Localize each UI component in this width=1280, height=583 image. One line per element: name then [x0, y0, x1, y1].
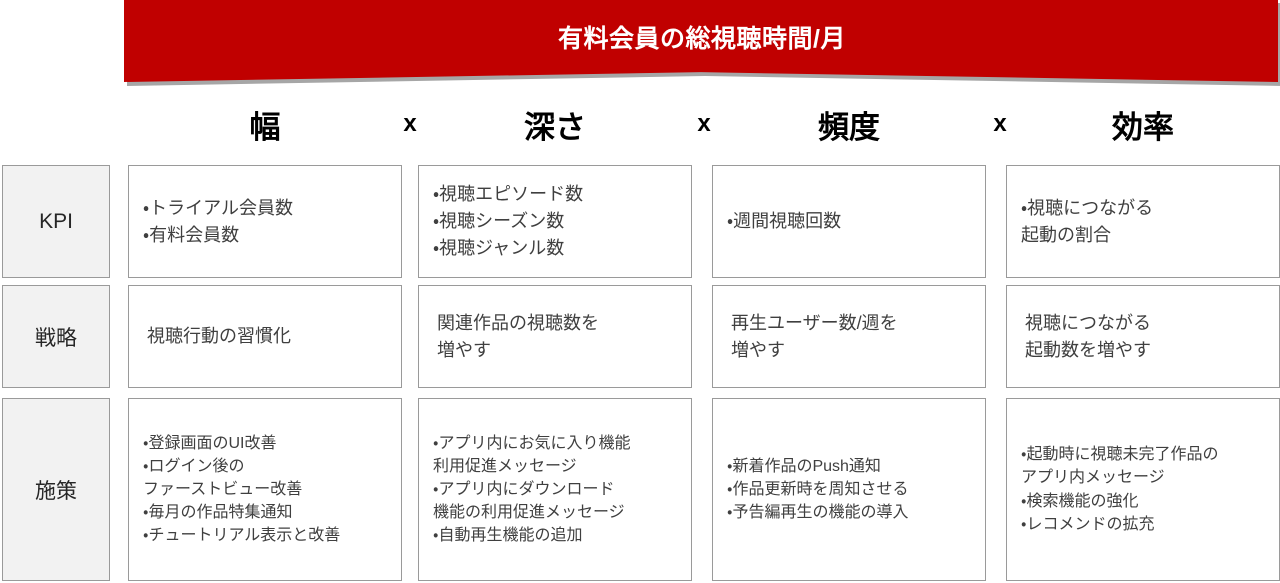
cell-content: ・視聴につながる 起動の割合	[1007, 195, 1279, 249]
list-item: ・チュートリアル表示と改善	[143, 524, 389, 547]
bullet-list: ・トライアル会員数 ・有料会員数	[143, 195, 389, 249]
cell-content: 視聴行動の習慣化	[129, 323, 401, 350]
cell-content: ・視聴エピソード数 ・視聴シーズン数 ・視聴ジャンル数	[419, 181, 691, 262]
cell-kpi-breadth: ・トライアル会員数 ・有料会員数	[128, 165, 402, 278]
list-item: ・登録画面のUI改善	[143, 432, 389, 455]
list-item: ・ログイン後の ファーストビュー改善	[143, 455, 389, 501]
bullet-list: ・新着作品のPush通知 ・作品更新時を周知させる ・予告編再生の機能の導入	[727, 455, 973, 525]
cell-strategy-frequency: 再生ユーザー数/週を 増やす	[712, 285, 986, 388]
list-item: ・レコメンドの拡充	[1021, 513, 1267, 536]
cell-strategy-depth: 関連作品の視聴数を 増やす	[418, 285, 692, 388]
cell-measures-depth: ・アプリ内にお気に入り機能 利用促進メッセージ ・アプリ内にダウンロード 機能の…	[418, 398, 692, 581]
list-item: ・週間視聴回数	[727, 208, 973, 235]
list-item: ・検索機能の強化	[1021, 490, 1267, 513]
cell-content: ・トライアル会員数 ・有料会員数	[129, 195, 401, 249]
cell-content: ・登録画面のUI改善 ・ログイン後の ファーストビュー改善 ・毎月の作品特集通知…	[129, 432, 401, 548]
list-item: ・視聴エピソード数	[433, 181, 679, 208]
row-label-measures: 施策	[2, 398, 110, 581]
list-item: ・自動再生機能の追加	[433, 524, 679, 547]
cell-kpi-efficiency: ・視聴につながる 起動の割合	[1006, 165, 1280, 278]
text-line: 視聴行動の習慣化	[147, 323, 389, 350]
cell-measures-frequency: ・新着作品のPush通知 ・作品更新時を周知させる ・予告編再生の機能の導入	[712, 398, 986, 581]
cell-content: 視聴につながる 起動数を増やす	[1007, 310, 1279, 364]
bullet-list: ・視聴エピソード数 ・視聴シーズン数 ・視聴ジャンル数	[433, 181, 679, 262]
kpi-matrix: KPI ・トライアル会員数 ・有料会員数 ・視聴エピソード数 ・視聴シーズン数 …	[0, 0, 1280, 583]
text-line: 視聴につながる 起動数を増やす	[1025, 310, 1267, 364]
cell-content: ・起動時に視聴未完了作品の アプリ内メッセージ ・検索機能の強化 ・レコメンドの…	[1007, 443, 1279, 536]
cell-strategy-breadth: 視聴行動の習慣化	[128, 285, 402, 388]
cell-content: 再生ユーザー数/週を 増やす	[713, 310, 985, 364]
list-item: ・トライアル会員数	[143, 195, 389, 222]
list-item: ・視聴につながる 起動の割合	[1021, 195, 1267, 249]
list-item: ・アプリ内にダウンロード 機能の利用促進メッセージ	[433, 478, 679, 524]
cell-content: ・アプリ内にお気に入り機能 利用促進メッセージ ・アプリ内にダウンロード 機能の…	[419, 432, 691, 548]
list-item: ・毎月の作品特集通知	[143, 501, 389, 524]
list-item: ・予告編再生の機能の導入	[727, 501, 973, 524]
cell-measures-breadth: ・登録画面のUI改善 ・ログイン後の ファーストビュー改善 ・毎月の作品特集通知…	[128, 398, 402, 581]
list-item: ・有料会員数	[143, 222, 389, 249]
list-item: ・アプリ内にお気に入り機能 利用促進メッセージ	[433, 432, 679, 478]
list-item: ・視聴シーズン数	[433, 208, 679, 235]
list-item: ・視聴ジャンル数	[433, 235, 679, 262]
bullet-list: ・起動時に視聴未完了作品の アプリ内メッセージ ・検索機能の強化 ・レコメンドの…	[1021, 443, 1267, 536]
list-item: ・起動時に視聴未完了作品の アプリ内メッセージ	[1021, 443, 1267, 489]
row-label-kpi: KPI	[2, 165, 110, 278]
bullet-list: ・登録画面のUI改善 ・ログイン後の ファーストビュー改善 ・毎月の作品特集通知…	[143, 432, 389, 548]
row-label-strategy: 戦略	[2, 285, 110, 388]
list-item: ・新着作品のPush通知	[727, 455, 973, 478]
bullet-list: ・週間視聴回数	[727, 208, 973, 235]
cell-kpi-frequency: ・週間視聴回数	[712, 165, 986, 278]
cell-measures-efficiency: ・起動時に視聴未完了作品の アプリ内メッセージ ・検索機能の強化 ・レコメンドの…	[1006, 398, 1280, 581]
bullet-list: ・アプリ内にお気に入り機能 利用促進メッセージ ・アプリ内にダウンロード 機能の…	[433, 432, 679, 548]
cell-content: ・新着作品のPush通知 ・作品更新時を周知させる ・予告編再生の機能の導入	[713, 455, 985, 525]
cell-content: 関連作品の視聴数を 増やす	[419, 310, 691, 364]
cell-content: ・週間視聴回数	[713, 208, 985, 235]
bullet-list: ・視聴につながる 起動の割合	[1021, 195, 1267, 249]
cell-kpi-depth: ・視聴エピソード数 ・視聴シーズン数 ・視聴ジャンル数	[418, 165, 692, 278]
text-line: 関連作品の視聴数を 増やす	[437, 310, 679, 364]
cell-strategy-efficiency: 視聴につながる 起動数を増やす	[1006, 285, 1280, 388]
text-line: 再生ユーザー数/週を 増やす	[731, 310, 973, 364]
list-item: ・作品更新時を周知させる	[727, 478, 973, 501]
